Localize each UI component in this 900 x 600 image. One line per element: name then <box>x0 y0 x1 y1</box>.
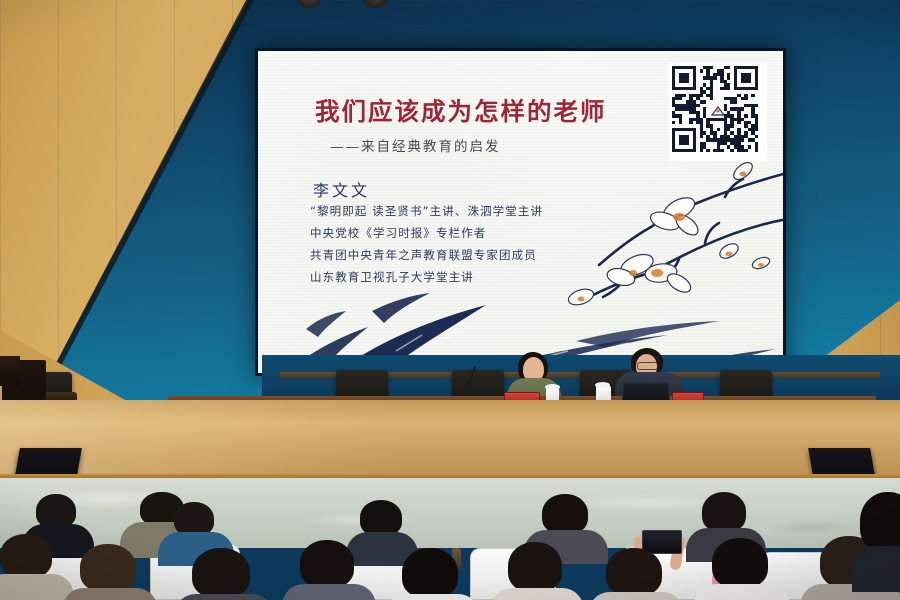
glasses-icon <box>637 362 658 370</box>
slide-credential-line: 共青团中央青年之声教育联盟专家团成员 <box>310 247 537 263</box>
audience-area <box>0 492 900 600</box>
slide-subtitle: ——来自经典教育的启发 <box>330 135 501 155</box>
slide-credential-line: 中央党校《学习时报》专栏作者 <box>310 225 486 241</box>
slide-credential-line: “黎明即起 读圣贤书”主讲、洙泗学堂主讲 <box>310 203 543 219</box>
slide-title: 我们应该成为怎样的老师 <box>315 93 607 128</box>
slide-surface: 我们应该成为怎样的老师 ——来自经典教育的启发 李文文 “黎明即起 读圣贤书”主… <box>258 51 783 373</box>
slide-speaker-name: 李文文 <box>313 177 370 201</box>
slide-credential-line: 山东教育卫视孔子大学堂主讲 <box>310 269 474 285</box>
lecture-hall-photo: 我们应该成为怎样的老师 ——来自经典教育的启发 李文文 “黎明即起 读圣贤书”主… <box>0 0 900 600</box>
led-presentation-screen: 我们应该成为怎样的老师 ——来自经典教育的启发 李文文 “黎明即起 读圣贤书”主… <box>255 48 786 376</box>
piano-lid <box>0 356 20 386</box>
